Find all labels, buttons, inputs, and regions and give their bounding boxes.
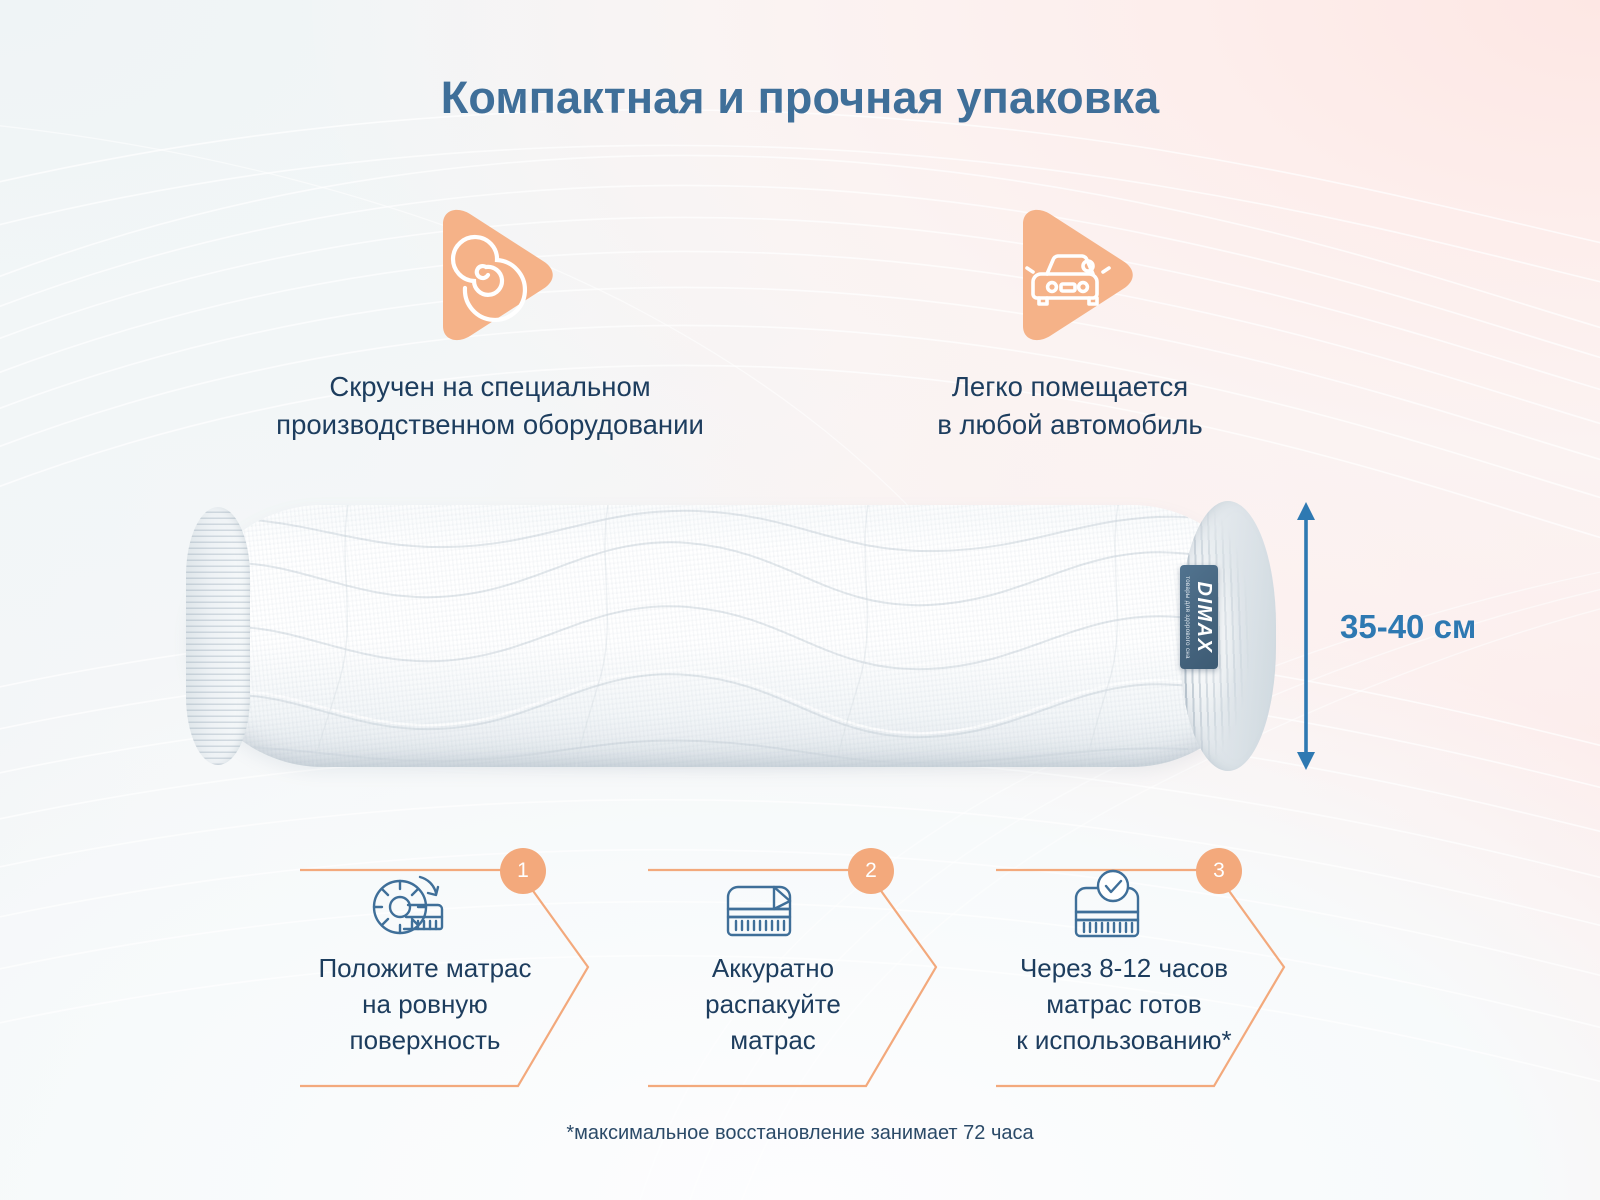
step-text-line2: распакуйте [638,986,908,1022]
step-2: 2 Аккуратно распакуйте матрас [644,842,1024,1092]
spiral-icon [415,200,565,350]
dimension-arrow-icon [1288,500,1348,772]
step-text-line3: матрас [638,1022,908,1058]
feature-caption-line2: в любой автомобиль [835,406,1305,444]
brand-name: DIMAX [1192,576,1215,659]
brand-tagline: товары для здорового сна [1184,576,1190,659]
step-text-line1: Аккуратно [638,950,908,986]
car-triangle-badge [835,200,1305,350]
roll-body [188,505,1266,767]
step-text-line2: матрас готов [974,986,1274,1022]
step-number-badge: 1 [500,848,546,894]
step-text-line1: Через 8-12 часов [974,950,1274,986]
step-text-line1: Положите матрас [290,950,560,986]
step-icon-slot [1042,864,1172,950]
feature-caption-line1: Легко помещается [835,368,1305,406]
spiral-triangle-badge [190,200,790,350]
step-text-line2: на ровную [290,986,560,1022]
mattress-check-icon [1066,866,1148,948]
feature-caption-line2: производственном оборудовании [190,406,790,444]
roll-left-end [186,507,250,765]
rolled-mattress-icon [368,867,454,947]
step-number-badge: 3 [1196,848,1242,894]
brand-label-tag: DIMAX товары для здорового сна [1180,565,1218,669]
dimension-label: 35-40 см [1340,608,1476,646]
step-number-badge: 2 [848,848,894,894]
rolled-mattress-photo: DIMAX товары для здорового сна [180,495,1280,790]
step-icon-slot [346,864,476,950]
feature-caption-line1: Скручен на специальном [190,368,790,406]
step-1: 1 Положите матрас на ровную поверхно [296,842,676,1092]
step-text-line3: к использованию* [974,1022,1274,1058]
quilting-pattern [188,505,1266,767]
step-3: 3 Через 8-12 часов матрас готов к исполь… [992,842,1372,1092]
mattress-unpack-icon [718,867,800,947]
instruction-steps: 1 Положите матрас на ровную поверхно [296,842,1306,1092]
car-icon [995,200,1145,350]
feature-fits-any-car: Легко помещается в любой автомобиль [835,200,1305,444]
page-title: Компактная и прочная упаковка [0,72,1600,124]
footnote: *максимальное восстановление занимает 72… [0,1122,1600,1145]
step-icon-slot [694,864,824,950]
feature-rolled-on-equipment: Скручен на специальном производственном … [190,200,790,444]
height-dimension: 35-40 см [1288,500,1588,772]
step-text-line3: поверхность [290,1022,560,1058]
